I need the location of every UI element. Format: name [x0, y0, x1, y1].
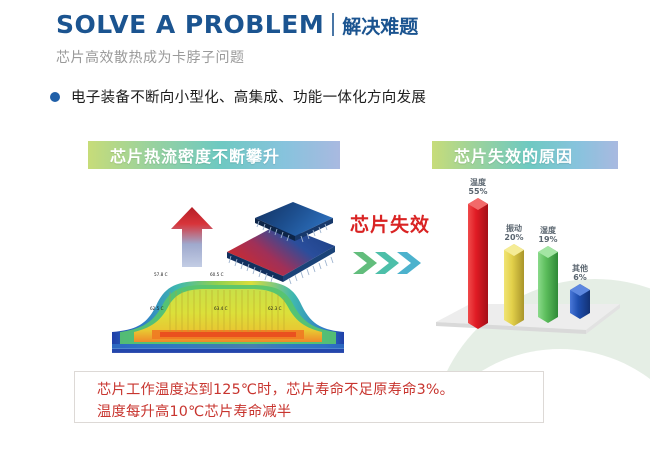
bar-qita [570, 284, 590, 319]
warning-callout-box: 芯片工作温度达到125℃时，芯片寿命不足原寿命3%。 温度每升高10℃芯片寿命减… [74, 371, 544, 423]
section-banner-left-label: 芯片热流密度不断攀升 [110, 143, 280, 167]
section-banner-left: 芯片热流密度不断攀升 [88, 141, 340, 169]
bar-chart-svg [428, 180, 628, 338]
chevron-arrows-icon [351, 250, 429, 276]
bullet-point: 电子装备不断向小型化、高集成、功能一体化方向发展 [50, 86, 426, 107]
bar-label-qita-name: 其他 [572, 264, 588, 273]
page-title-cn: 解决难题 [342, 12, 418, 39]
thermal-label-1: 57.8 C [154, 272, 168, 277]
section-banner-right: 芯片失效的原因 [432, 141, 618, 169]
thermal-label-5: 62.3 C [268, 306, 282, 311]
chip-failure-label: 芯片失效 [344, 210, 436, 237]
bar-zhendong [504, 244, 524, 326]
bar-shidu [538, 246, 558, 323]
bar-label-shidu: 湿度 19% [528, 226, 568, 244]
thermal-label-3: 62.5 C [150, 306, 164, 311]
section-banner-right-label: 芯片失效的原因 [454, 143, 573, 167]
chevron-arrows-group [344, 250, 436, 276]
heatsink-thermal-simulation-image [110, 270, 346, 354]
title-divider [332, 13, 334, 36]
heat-rising-arrow-icon [170, 206, 214, 268]
bar-label-qita-value: 6% [573, 273, 587, 282]
title-row: SOLVE A PROBLEM 解决难题 [56, 10, 418, 39]
bar-label-wendu-value: 55% [468, 187, 487, 196]
bar-label-wendu-name: 温度 [470, 178, 486, 187]
callout-line-2: 温度每升高10℃芯片寿命减半 [97, 401, 543, 423]
callout-line-1: 芯片工作温度达到125℃时，芯片寿命不足原寿命3%。 [97, 379, 543, 401]
bar-label-shidu-name: 湿度 [540, 226, 556, 235]
chip-failure-block: 芯片失效 [344, 210, 436, 276]
bullet-point-text: 电子装备不断向小型化、高集成、功能一体化方向发展 [71, 86, 426, 107]
bar-wendu [468, 198, 488, 329]
thermal-label-4: 63.4 C [214, 306, 228, 311]
failure-cause-bar-chart: 温度 55% 振动 20% 湿度 19% 其他 6% [428, 180, 628, 338]
bar-label-qita: 其他 6% [560, 264, 600, 282]
page-subtitle: 芯片高效散热成为卡脖子问题 [56, 47, 418, 67]
bullet-dot-icon [50, 92, 60, 102]
thermal-label-2: 60.5 C [210, 272, 224, 277]
bar-label-wendu: 温度 55% [458, 178, 498, 196]
slide-root: SOLVE A PROBLEM 解决难题 芯片高效散热成为卡脖子问题 电子装备不… [0, 0, 650, 459]
bar-label-zhendong-name: 振动 [506, 224, 522, 233]
page-header: SOLVE A PROBLEM 解决难题 芯片高效散热成为卡脖子问题 [56, 10, 418, 67]
thermal-illustration: 57.8 C 60.5 C 62.5 C 63.4 C 62.3 C [118, 198, 348, 353]
bar-label-zhendong-value: 20% [504, 233, 523, 242]
bar-label-shidu-value: 19% [538, 235, 557, 244]
page-title-en: SOLVE A PROBLEM [56, 10, 324, 39]
